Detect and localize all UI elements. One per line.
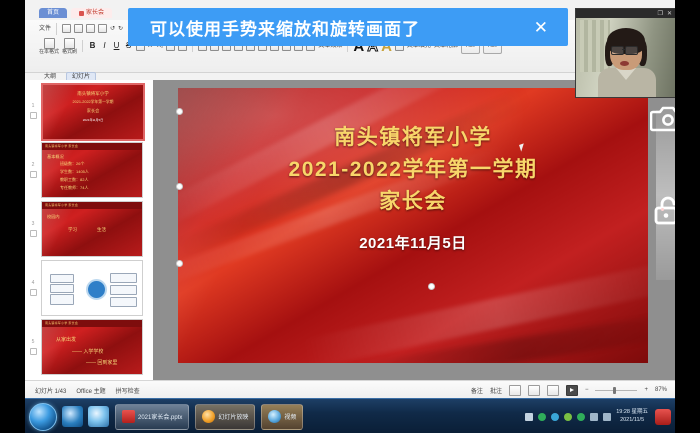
thumb2-row3-value: 82人 (80, 177, 88, 182)
glasses-left-lens (611, 46, 624, 55)
paste-icon (44, 38, 55, 49)
person-mouth (620, 61, 629, 66)
thumb1-line4: 2021年11月5日 (43, 118, 143, 123)
thumbnail-5[interactable]: 南头镇将军小学 家长会 从家出发 —— 入学学校 —— 回到家里 (41, 319, 143, 375)
spellcheck-status[interactable]: 拼写检查 (116, 386, 140, 395)
thumb2-row3-label: 教职工数： (60, 177, 80, 182)
thumbnail-number-group: 5 (25, 319, 41, 375)
status-left: 幻灯片 1/43 Office 主题 拼写检查 (25, 386, 140, 395)
notes-button[interactable]: 备注 (471, 386, 483, 395)
webcam-window[interactable]: ❐ ✕ (575, 8, 677, 98)
tab-document[interactable]: 家长会 (71, 8, 112, 18)
blue-app-icon (268, 410, 281, 423)
open-icon[interactable] (74, 24, 83, 33)
thumbnail-number: 3 (32, 222, 35, 227)
status-right: 备注 批注 − + 87% (471, 385, 675, 396)
action-center-icon[interactable] (603, 413, 611, 421)
taskbar-button-slideshow-label: 幻灯片放映 (218, 412, 248, 421)
security-icon[interactable] (538, 413, 546, 421)
slide-layout-icon (30, 171, 37, 178)
zoom-slider[interactable] (595, 390, 637, 391)
file-explorer-icon[interactable] (88, 406, 109, 427)
underline-button[interactable]: U (112, 42, 121, 50)
taskbar: 2021家长会.pptx 幻灯片放映 视频 19:28 星期五 (25, 398, 675, 433)
slide-sorter-button[interactable] (528, 385, 540, 396)
close-icon[interactable]: ✕ (530, 19, 552, 36)
tray-app-icon[interactable] (655, 409, 671, 425)
notification-banner[interactable]: 可以使用手势来缩放和旋转画面了 ✕ (128, 8, 568, 46)
paste-group[interactable]: 在本格式 (39, 38, 59, 55)
thumb2-row2-label: 学生数： (60, 169, 76, 174)
thumbnail-4[interactable] (41, 260, 143, 316)
slide-line-3: 家长会 (178, 186, 648, 218)
clock-date: 2021/11/5 (616, 417, 648, 425)
slide-title-block[interactable]: 南头镇将军小学 2021-2022学年第一学期 家长会 2021年11月5日 (178, 122, 648, 253)
start-button-icon[interactable] (29, 403, 57, 431)
divider (82, 40, 83, 52)
thumb5-line3: —— 回到家里 (86, 359, 117, 368)
system-tray: 19:28 星期五 2021/11/5 (525, 409, 675, 425)
thumb2-row2-value: 1405人 (76, 169, 89, 174)
taskbar-button-presentation-label: 2021家长会.pptx (138, 412, 182, 421)
diagram-node (110, 285, 137, 295)
slide-thumbnail-pane[interactable]: 1 南头镇将军小学 2021-2022学年第一学期 家长会 2021年11月5日… (25, 80, 154, 380)
clock-time: 19:28 星期五 (616, 409, 648, 417)
normal-view-button[interactable] (509, 385, 521, 396)
wps-icon (122, 410, 135, 423)
thumb2-row1-value: 26个 (76, 161, 84, 166)
slideshow-button[interactable] (566, 385, 578, 396)
glasses-bridge (622, 49, 625, 50)
sync-icon[interactable] (577, 413, 585, 421)
save-icon[interactable] (86, 24, 95, 33)
thumbnail-number-group: 4 (25, 260, 41, 316)
letterbox-left (0, 0, 25, 433)
slide-line-1: 南头镇将军小学 (178, 122, 648, 154)
divider (56, 23, 57, 35)
undo-icon[interactable]: ↺ (110, 26, 115, 32)
diagram-node (50, 284, 74, 293)
slide-date: 2021年11月5日 (178, 232, 648, 253)
thumb5-header: 南头镇将军小学 家长会 (42, 320, 142, 327)
taskbar-button-presentation[interactable]: 2021家长会.pptx (115, 404, 189, 430)
orange-app-icon (202, 410, 215, 423)
thumb2-row4-value: 74人 (80, 185, 88, 190)
redo-icon[interactable]: ↻ (118, 26, 123, 32)
thumbnail-number: 1 (32, 104, 35, 109)
diagram-node (50, 294, 74, 305)
webcam-titlebar: ❐ ✕ (576, 9, 676, 18)
thumbnail-number: 2 (32, 163, 35, 168)
document-icon (79, 11, 84, 16)
thumb1-line1: 南头镇将军小学 (43, 90, 143, 97)
thumb3-title: 校园内 (47, 213, 60, 220)
thumbnail-item[interactable]: 1 南头镇将军小学 2021-2022学年第一学期 家长会 2021年11月5日 (25, 83, 153, 139)
thumbnail-number-group: 2 (25, 142, 41, 198)
browser-icon[interactable] (62, 406, 83, 427)
thumb2-row4-label: 专任教师： (60, 185, 80, 190)
format-painter-icon (64, 38, 75, 49)
thumb2-row3: 教职工数：82人 (60, 177, 88, 184)
taskbar-button-video-label: 视频 (284, 412, 296, 421)
thumb5-line2: —— 入学学校 (72, 348, 103, 357)
thumb2-row2: 学生数：1405人 (60, 169, 89, 176)
selection-handle[interactable] (428, 283, 435, 290)
format-painter-label: 格式刷 (62, 50, 77, 55)
thumb3-header: 南头镇将军小学 家长会 (42, 202, 142, 209)
slide-layout-icon (30, 230, 37, 237)
tab-document-label: 家长会 (86, 10, 104, 16)
diagram-hub-icon (86, 279, 107, 300)
diagram-node (50, 274, 74, 283)
thumbnail-1[interactable]: 南头镇将军小学 2021-2022学年第一学期 家长会 2021年11月5日 (41, 83, 145, 141)
letterbox-right (675, 0, 700, 433)
screen-root: 首页 家长会 文件 ↺ ↻ (0, 0, 700, 433)
print-icon[interactable] (98, 24, 107, 33)
recording-dot (661, 208, 664, 211)
thumbnail-item[interactable]: 2 南头镇将军小学 家长会 基本概况 班级数：26个 学生数：1405人 (25, 142, 153, 198)
thumb1-line3: 家长会 (43, 108, 143, 115)
taskbar-button-video[interactable]: 视频 (261, 404, 303, 430)
thumbnail-3[interactable]: 南头镇将军小学 家长会 校园内 学习 生活 (41, 201, 143, 257)
thumbnail-background (42, 202, 142, 256)
thumb5-line1: 从家出发 (56, 336, 76, 345)
slide-canvas-area[interactable]: 南头镇将军小学 2021-2022学年第一学期 家长会 2021年11月5日 (153, 80, 675, 380)
thumb2-row4: 专任教师：74人 (60, 185, 88, 192)
zoom-in-button[interactable]: + (644, 387, 648, 393)
thumbnail-item[interactable]: 3 南头镇将军小学 家长会 校园内 学习 生活 (25, 201, 153, 257)
thumb2-title: 基本概况 (47, 153, 64, 160)
thumbnail-number-group: 1 (25, 83, 41, 139)
slide-layout-icon (30, 348, 37, 355)
diagram-node (110, 273, 137, 283)
show-hidden-icons-icon[interactable] (525, 413, 533, 421)
thumbnail-background (42, 143, 142, 197)
zoom-level[interactable]: 87% (655, 387, 667, 393)
thumbnail-number: 4 (32, 281, 35, 286)
status-bar: 幻灯片 1/43 Office 主题 拼写检查 备注 批注 − + 87% (25, 380, 675, 398)
selection-handle[interactable] (176, 260, 183, 267)
glasses-right-lens (625, 46, 638, 55)
new-icon[interactable] (62, 24, 71, 33)
comments-button[interactable]: 批注 (490, 386, 502, 395)
thumb2-header: 南头镇将军小学 家长会 (42, 143, 142, 150)
messenger-icon[interactable] (564, 413, 572, 421)
theme-name[interactable]: Office 主题 (76, 386, 105, 395)
thumb1-line2: 2021-2022学年第一学期 (43, 99, 143, 105)
thumbnail-2[interactable]: 南头镇将军小学 家长会 基本概况 班级数：26个 学生数：1405人 教职工数：… (41, 142, 143, 198)
tab-home[interactable]: 首页 (39, 8, 67, 18)
thumbnail-number-group: 3 (25, 201, 41, 257)
menu-file[interactable]: 文件 (39, 26, 51, 32)
selection-handle[interactable] (176, 183, 183, 190)
webcam-video (576, 18, 676, 97)
volume-icon[interactable] (590, 413, 598, 421)
thumbnail-item[interactable]: 4 (25, 260, 153, 316)
slide-layout-icon (30, 289, 37, 296)
diagram-node (110, 297, 137, 307)
taskbar-button-slideshow[interactable]: 幻灯片放映 (195, 404, 255, 430)
thumbnail-number: 5 (32, 340, 35, 345)
thumb2-row1-label: 班级数： (60, 161, 76, 166)
slide-line-2: 2021-2022学年第一学期 (178, 154, 648, 186)
paste-label: 在本格式 (39, 50, 59, 55)
slide-count: 幻灯片 1/43 (35, 386, 66, 395)
reading-view-button[interactable] (547, 385, 559, 396)
current-slide[interactable]: 南头镇将军小学 2021-2022学年第一学期 家长会 2021年11月5日 (178, 88, 648, 363)
thumb3-row1-value: 生活 (97, 226, 106, 234)
zoom-out-button[interactable]: − (585, 387, 589, 393)
thumbnail-item[interactable]: 5 南头镇将军小学 家长会 从家出发 —— 入学学校 —— 回到家里 (25, 319, 153, 375)
restore-icon[interactable]: ❐ (658, 11, 663, 17)
network-icon[interactable] (551, 413, 559, 421)
bold-button[interactable]: B (88, 42, 97, 50)
thumb2-row1: 班级数：26个 (60, 161, 84, 168)
thumb3-row1-label: 学习 (68, 226, 77, 234)
notification-text: 可以使用手势来缩放和旋转画面了 (150, 15, 420, 40)
close-icon[interactable]: ✕ (667, 11, 672, 17)
slide-layout-icon (30, 112, 37, 119)
format-painter-group[interactable]: 格式刷 (62, 38, 77, 55)
italic-button[interactable]: I (100, 42, 109, 50)
selection-handle[interactable] (176, 108, 183, 115)
clock[interactable]: 19:28 星期五 2021/11/5 (616, 409, 648, 425)
